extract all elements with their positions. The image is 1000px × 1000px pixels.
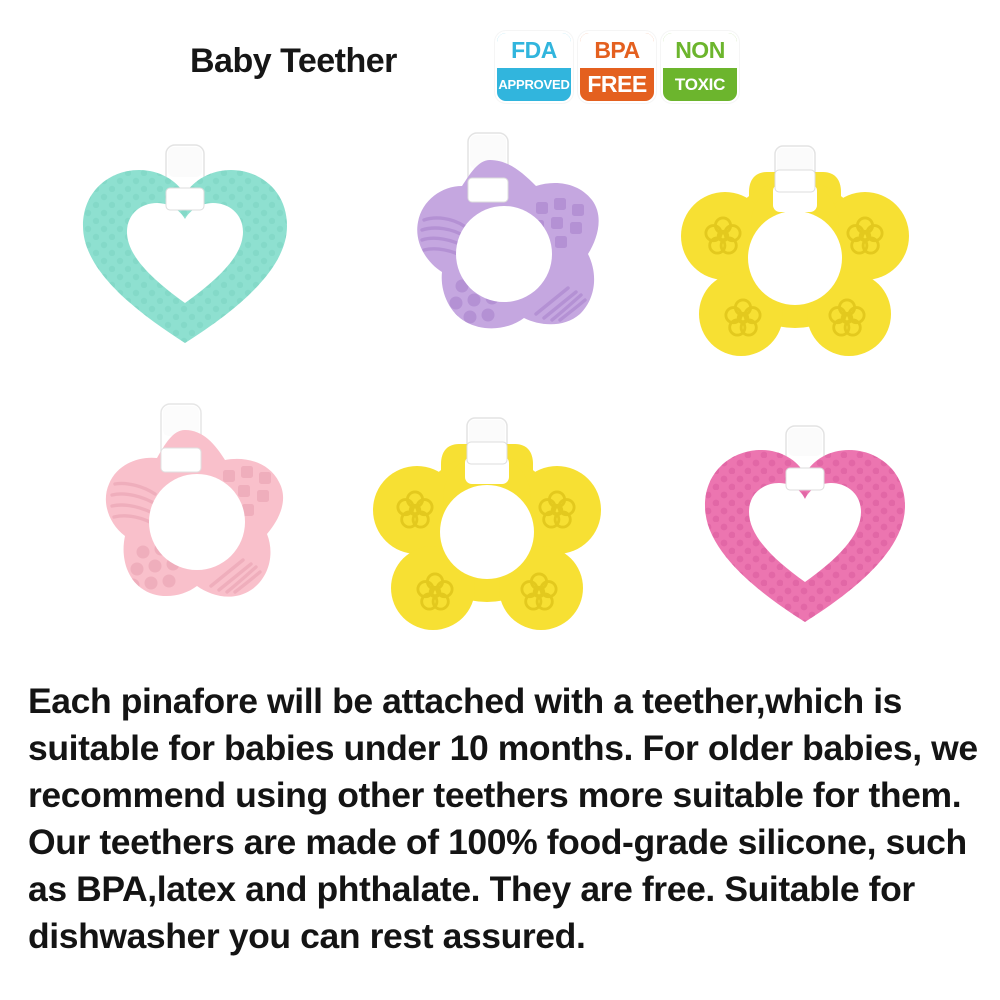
bpa-badge-bottom-label: FREE: [580, 68, 654, 101]
product-teether-star-pink[interactable]: [25, 400, 325, 650]
teether-flower-yellow-bottom-image: [337, 408, 637, 658]
header-banner: Baby Teether FDA APPROVED BPA FREE NON T…: [0, 0, 1000, 118]
product-teether-heart-mint[interactable]: [35, 128, 335, 378]
product-teether-star-purple[interactable]: [340, 128, 640, 378]
non-badge-top-label: NON: [663, 33, 737, 68]
teether-star-pink-image: [25, 400, 325, 650]
non-badge-bottom-label: TOXIC: [663, 68, 737, 101]
product-description-text: Each pinafore will be attached with a te…: [28, 678, 978, 960]
product-image-grid: [0, 118, 1000, 663]
product-teether-flower-yellow-top[interactable]: [645, 128, 945, 378]
page-title: Baby Teether: [190, 42, 397, 81]
product-teether-heart-magenta[interactable]: [655, 410, 955, 660]
non-toxic-badge: NON TOXIC: [661, 31, 739, 103]
teether-flower-yellow-top-image: [645, 128, 945, 378]
product-teether-flower-yellow-bottom[interactable]: [337, 408, 637, 658]
fda-badge-bottom-label: APPROVED: [497, 68, 571, 101]
bpa-free-badge: BPA FREE: [578, 31, 656, 103]
fda-approved-badge: FDA APPROVED: [495, 31, 573, 103]
fda-badge-top-label: FDA: [497, 33, 571, 68]
teether-heart-mint-image: [35, 128, 335, 378]
teether-heart-magenta-image: [655, 410, 955, 660]
bpa-badge-top-label: BPA: [580, 33, 654, 68]
teether-star-purple-image: [340, 128, 640, 378]
certification-badge-group: FDA APPROVED BPA FREE NON TOXIC: [495, 31, 739, 103]
